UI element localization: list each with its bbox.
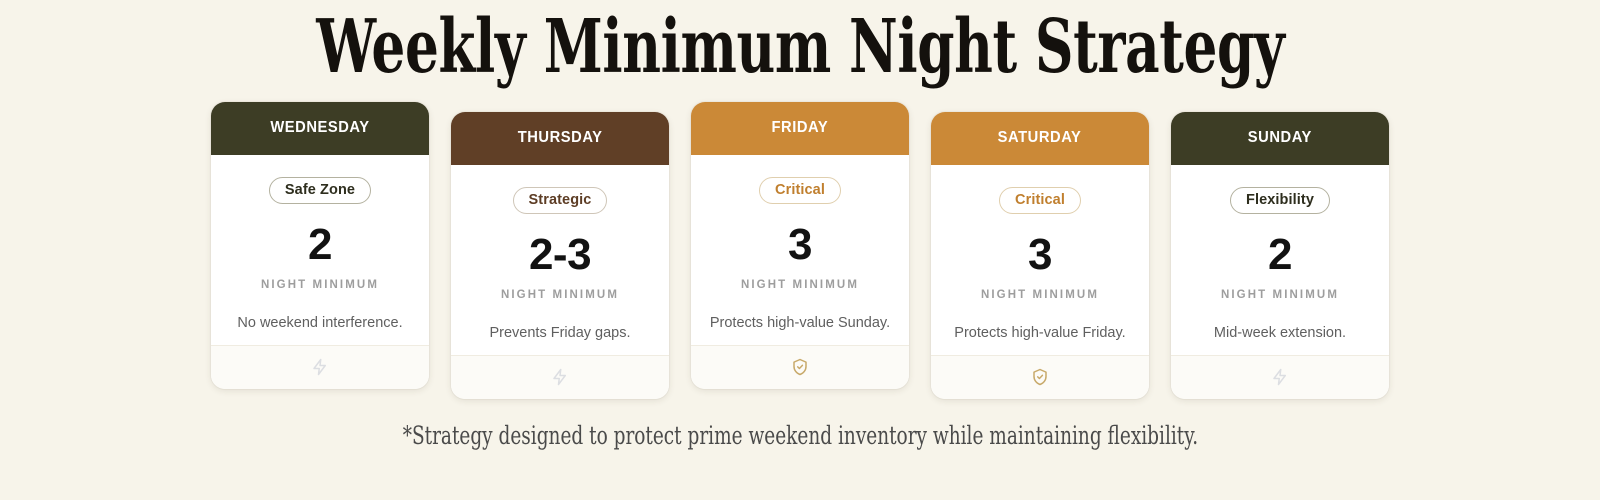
strategy-footnote: *Strategy designed to protect prime week… — [402, 421, 1197, 450]
day-card-footer — [691, 345, 909, 389]
day-card-description: No weekend interference. — [237, 313, 402, 333]
day-card-friday[interactable]: FRIDAYCritical3NIGHT MINIMUMProtects hig… — [691, 102, 909, 389]
day-card-body: Critical3NIGHT MINIMUMProtects high-valu… — [691, 155, 909, 345]
minimum-nights-value: 2 — [1268, 233, 1292, 277]
status-badge: Safe Zone — [269, 177, 371, 204]
shield-check-icon — [791, 358, 809, 376]
minimum-nights-value: 3 — [788, 223, 812, 267]
day-card-header: SUNDAY — [1171, 112, 1389, 165]
day-name: SUNDAY — [1248, 129, 1312, 147]
day-card-description: Protects high-value Friday. — [954, 323, 1125, 343]
day-card-body: Critical3NIGHT MINIMUMProtects high-valu… — [931, 165, 1149, 355]
minimum-nights-value: 2 — [308, 223, 332, 267]
lightning-bolt-icon — [311, 358, 329, 376]
day-name: SATURDAY — [998, 129, 1082, 147]
day-card-description: Protects high-value Sunday. — [710, 313, 890, 333]
day-card-sunday[interactable]: SUNDAYFlexibility2NIGHT MINIMUMMid-week … — [1171, 112, 1389, 399]
day-card-body: Flexibility2NIGHT MINIMUMMid-week extens… — [1171, 165, 1389, 355]
weekly-minimum-night-strategy-page: Weekly Minimum Night Strategy WEDNESDAYS… — [0, 0, 1600, 500]
day-card-footer — [211, 345, 429, 389]
day-name: WEDNESDAY — [270, 119, 369, 137]
minimum-nights-label: NIGHT MINIMUM — [501, 289, 619, 301]
day-card-body: Safe Zone2NIGHT MINIMUMNo weekend interf… — [211, 155, 429, 345]
day-card-description: Prevents Friday gaps. — [489, 323, 630, 343]
status-badge: Critical — [999, 187, 1081, 214]
minimum-nights-label: NIGHT MINIMUM — [741, 279, 859, 291]
minimum-nights-value: 3 — [1028, 233, 1052, 277]
day-name: THURSDAY — [518, 129, 603, 147]
day-card-list: WEDNESDAYSafe Zone2NIGHT MINIMUMNo weeke… — [185, 102, 1415, 399]
status-badge: Critical — [759, 177, 841, 204]
lightning-bolt-icon — [1271, 368, 1289, 386]
status-badge: Flexibility — [1230, 187, 1330, 214]
day-card-saturday[interactable]: SATURDAYCritical3NIGHT MINIMUMProtects h… — [931, 112, 1149, 399]
lightning-bolt-icon — [551, 368, 569, 386]
day-card-thursday[interactable]: THURSDAYStrategic2-3NIGHT MINIMUMPrevent… — [451, 112, 669, 399]
page-title: Weekly Minimum Night Strategy — [316, 8, 1284, 88]
day-card-description: Mid-week extension. — [1214, 323, 1346, 343]
day-card-header: THURSDAY — [451, 112, 669, 165]
day-card-header: SATURDAY — [931, 112, 1149, 165]
day-name: FRIDAY — [772, 119, 829, 137]
day-card-header: FRIDAY — [691, 102, 909, 155]
day-card-wednesday[interactable]: WEDNESDAYSafe Zone2NIGHT MINIMUMNo weeke… — [211, 102, 429, 389]
status-badge: Strategic — [513, 187, 608, 214]
day-card-footer — [451, 355, 669, 399]
day-card-footer — [1171, 355, 1389, 399]
day-card-footer — [931, 355, 1149, 399]
minimum-nights-label: NIGHT MINIMUM — [981, 289, 1099, 301]
shield-check-icon — [1031, 368, 1049, 386]
minimum-nights-label: NIGHT MINIMUM — [1221, 289, 1339, 301]
minimum-nights-label: NIGHT MINIMUM — [261, 279, 379, 291]
minimum-nights-value: 2-3 — [529, 233, 591, 277]
day-card-header: WEDNESDAY — [211, 102, 429, 155]
day-card-body: Strategic2-3NIGHT MINIMUMPrevents Friday… — [451, 165, 669, 355]
